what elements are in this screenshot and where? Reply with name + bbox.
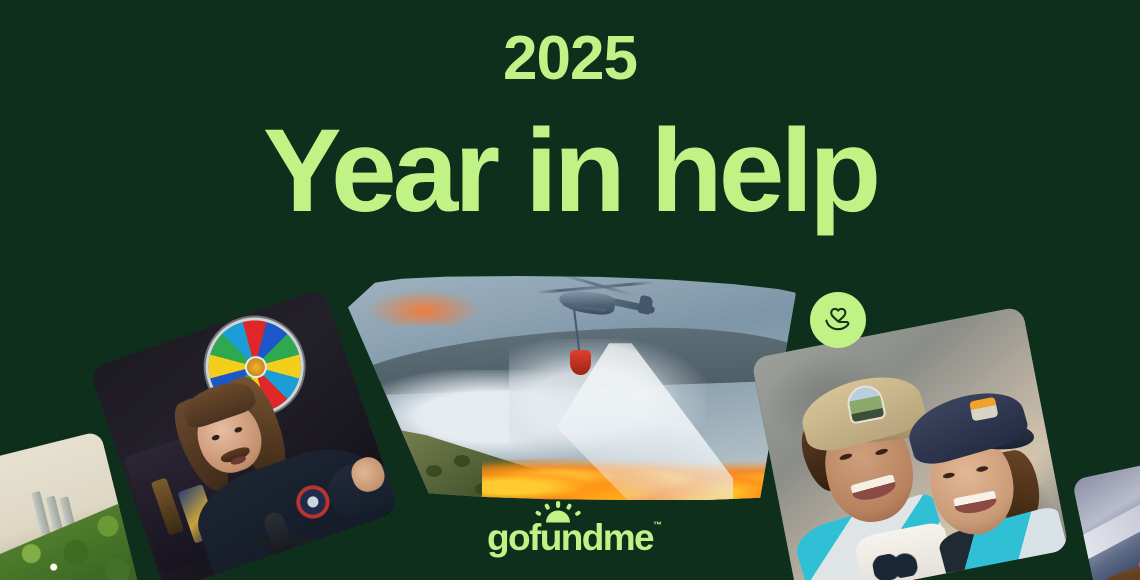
edge-photo[interactable] — [1072, 455, 1140, 580]
edge-photo-content — [1072, 455, 1140, 580]
year-in-help-banner: 2025 Year in help gofundme ™ — [0, 0, 1140, 580]
heart-in-hand-badge[interactable] — [810, 292, 866, 348]
sun-icon — [535, 501, 581, 523]
trademark-symbol: ™ — [653, 520, 662, 530]
headline-block: 2025 Year in help — [0, 28, 1140, 230]
brand-block: gofundme ™ — [0, 519, 1140, 556]
heart-in-hand-icon — [821, 303, 855, 337]
water-bucket-icon — [570, 350, 591, 375]
year-label: 2025 — [0, 28, 1140, 90]
wildfire-helicopter-photo[interactable] — [348, 276, 796, 500]
page-title: Year in help — [0, 112, 1140, 230]
distant-fire-glow — [366, 289, 482, 325]
gofundme-wordmark[interactable]: gofundme — [487, 517, 653, 558]
